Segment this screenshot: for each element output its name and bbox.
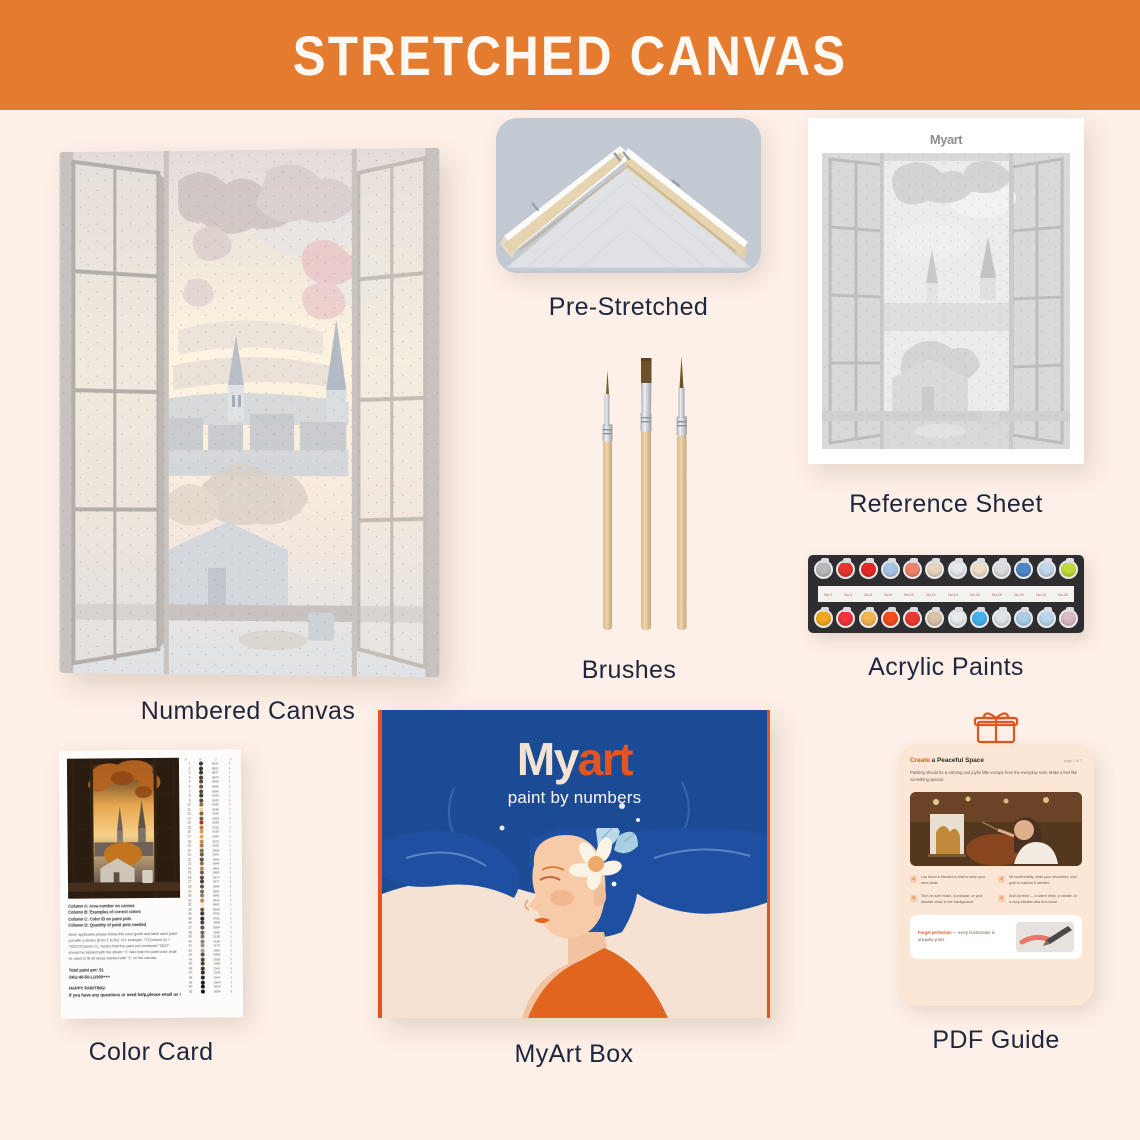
color-id: 2000	[213, 948, 220, 952]
paint-pot-bottom-6	[925, 609, 944, 628]
pot-quantity: 1	[229, 953, 234, 957]
area-number: 15	[185, 826, 191, 830]
pot-quantity: 1	[228, 921, 233, 925]
color-card-instruction-text: when applicable,please follow this color…	[68, 932, 181, 963]
area-number: 47	[186, 971, 192, 975]
paint-pot-bottom-3	[859, 609, 878, 628]
pdf-photo	[910, 792, 1082, 866]
paint-pot-bottom-5	[903, 609, 922, 628]
color-id: 0054	[213, 925, 220, 929]
pdf-subtitle: Painting should be a calming and joyful …	[910, 770, 1082, 784]
color-id: 0200	[212, 816, 219, 820]
area-number: 1	[184, 762, 190, 766]
paint-label-10: No 20	[1014, 592, 1024, 597]
color-card-legend: Column A: Area number on canvasColumn B:…	[68, 903, 181, 929]
tip-text: Add comfort — a warm drink, a candle, or…	[1009, 894, 1078, 906]
color-card-left-column: Column A: Area number on canvasColumn B:…	[67, 758, 182, 1011]
pot-quantity: 1	[227, 798, 232, 802]
color-swatch	[200, 857, 204, 861]
pot-quantity: 1	[229, 980, 234, 984]
pot-quantity: 1	[228, 898, 233, 902]
pot-quantity: 1	[227, 807, 232, 811]
area-number: 36	[186, 921, 192, 925]
pot-quantity: 1	[228, 857, 233, 861]
tip-text: Lay down a blanket or mat to keep your a…	[921, 875, 990, 887]
product-reference-sheet: Myart	[808, 118, 1084, 519]
pot-quantity: 1	[229, 948, 234, 952]
pot-quantity: 1	[228, 934, 233, 938]
area-number: 41	[186, 944, 192, 948]
caption-acrylic-paints: Acrylic Paints	[808, 653, 1084, 682]
tip-number: 2	[998, 876, 1005, 883]
paint-pot-bottom-11	[1037, 609, 1056, 628]
area-number: 4	[185, 776, 191, 780]
area-number: 49	[186, 980, 192, 984]
paint-pot-top-6	[925, 560, 944, 579]
pot-quantity: 1	[227, 771, 232, 775]
pot-quantity: 1	[229, 962, 234, 966]
area-number: 45	[186, 962, 192, 966]
area-number: 18	[185, 839, 191, 843]
color-swatch	[200, 889, 204, 893]
color-swatch	[200, 907, 204, 911]
color-card-painting-preview	[67, 758, 181, 899]
pdf-highlight-note: Forget perfection — every brushstroke is…	[910, 915, 1082, 959]
paint-pot-row-top	[812, 560, 1080, 579]
paint-pot-bottom-7	[948, 609, 967, 628]
area-number: 10	[185, 803, 191, 807]
pot-quantity: 1	[228, 925, 233, 929]
pot-quantity: 1	[227, 821, 232, 825]
color-id: 0096	[212, 780, 219, 784]
paint-pot-top-9	[992, 560, 1011, 579]
color-id: 0370	[213, 875, 220, 879]
paint-pot-top-5	[903, 560, 922, 579]
color-id: 0220	[212, 834, 219, 838]
area-number: 20	[185, 848, 191, 852]
product-acrylic-paints: No 2No 4No 6No 8No 10No 12No 14No 16No 1…	[808, 555, 1084, 682]
area-number: 51	[186, 989, 192, 993]
paint-pot-top-11	[1037, 560, 1056, 579]
area-number: 38	[186, 930, 192, 934]
color-id: 0365	[213, 871, 220, 875]
color-swatch	[199, 789, 203, 793]
pot-quantity: 1	[229, 971, 234, 975]
area-number: 26	[185, 876, 191, 880]
paint-pot-bottom-12	[1059, 609, 1078, 628]
numbered-canvas-image	[60, 148, 440, 677]
pot-quantity: 1	[228, 903, 233, 907]
paint-label-7: No 14	[948, 592, 958, 597]
three-brushes-illustration	[500, 350, 758, 642]
paint-pot-top-8	[970, 560, 989, 579]
paint-pot-bottom-2	[836, 609, 855, 628]
area-number: 11	[185, 807, 191, 811]
paint-label-5: No 10	[904, 592, 914, 597]
color-id: 0221	[212, 839, 219, 843]
paint-pot-top-3	[859, 560, 878, 579]
area-number: 48	[186, 976, 192, 980]
product-brushes: Brushes	[500, 350, 758, 685]
area-number: 28	[185, 885, 191, 889]
color-id: 0606	[213, 907, 220, 911]
color-id: 0183	[212, 812, 219, 816]
pot-quantity: 1	[228, 889, 233, 893]
pdf-title-rest: a Peaceful Space	[930, 757, 984, 764]
pot-quantity: 1	[228, 939, 233, 943]
pot-quantity: 1	[227, 784, 232, 788]
caption-reference-sheet: Reference Sheet	[808, 490, 1084, 519]
reference-sheet-paper: Myart	[808, 118, 1084, 464]
area-number: 31	[186, 898, 192, 902]
color-id: 2144	[214, 975, 221, 979]
pdf-tip: 4Add comfort — a warm drink, a candle, o…	[998, 894, 1078, 906]
color-id: 2268	[214, 962, 221, 966]
color-id: 0023	[212, 766, 219, 770]
color-id: 0342	[213, 857, 220, 861]
area-number: 37	[186, 926, 192, 930]
area-number: 33	[186, 907, 192, 911]
color-swatch	[201, 930, 205, 934]
pdf-tip: 3Turn on soft music, a podcast, or your …	[910, 894, 990, 906]
area-number: 43	[186, 953, 192, 957]
area-number: 27	[185, 880, 191, 884]
logo-my-text: My	[517, 733, 578, 785]
pot-quantity: 1	[227, 825, 232, 829]
pdf-tips-list: 1Lay down a blanket or mat to keep your …	[910, 875, 1082, 906]
paint-pot-top-2	[836, 560, 855, 579]
pot-quantity: 1	[228, 884, 233, 888]
pot-quantity: 1	[229, 966, 234, 970]
color-id: 0380	[213, 884, 220, 888]
paint-label-4: No 8	[884, 592, 892, 597]
color-id: 0348	[213, 862, 220, 866]
tip-text: Sit comfortably, relax your shoulders, a…	[1009, 875, 1078, 887]
pot-quantity: 1	[228, 848, 233, 852]
pot-quantity: 1	[229, 984, 234, 988]
pdf-page-number: page 1 of 7	[1064, 759, 1082, 763]
color-table-row: 5120541	[185, 989, 235, 994]
product-pdf-guide: Create a Peaceful Space page 1 of 7 Pain…	[898, 710, 1094, 1055]
pot-quantity: 1	[228, 852, 233, 856]
area-number: 19	[185, 844, 191, 848]
page-header: STRETCHED CANVAS	[0, 0, 1140, 110]
gift-icon-area	[898, 710, 1094, 744]
paint-pot-row-bottom	[812, 609, 1080, 628]
pdf-tip: 2Sit comfortably, relax your shoulders, …	[998, 875, 1078, 887]
color-swatch	[201, 966, 205, 970]
area-number: 40	[186, 939, 192, 943]
area-number: 9	[185, 798, 191, 802]
pot-quantity: 1	[227, 812, 232, 816]
product-myart-box: Myart paint by numbers	[378, 710, 770, 1069]
canvas-corner-illustration	[496, 118, 761, 273]
pot-quantity: 1	[227, 789, 232, 793]
pot-quantity: 1	[227, 793, 232, 797]
brushes-image	[500, 350, 758, 642]
paint-pot-bottom-4	[881, 609, 900, 628]
pdf-title: Create a Peaceful Space	[910, 757, 984, 764]
color-id: 2179	[213, 944, 220, 948]
color-id: 2190	[213, 939, 220, 943]
color-swatch	[200, 848, 204, 852]
paint-pot-bottom-1	[814, 609, 833, 628]
area-number: 21	[185, 853, 191, 857]
color-id: 0156	[212, 803, 219, 807]
color-swatch	[199, 766, 203, 770]
paint-pot-top-4	[881, 560, 900, 579]
tip-number: 1	[910, 876, 917, 883]
area-number: 12	[185, 812, 191, 816]
pot-quantity: 1	[228, 916, 233, 920]
pot-quantity: 1	[229, 943, 234, 947]
area-number: 23	[185, 862, 191, 866]
caption-pdf-guide: PDF Guide	[898, 1026, 1094, 1055]
area-number: 14	[185, 821, 191, 825]
color-card-paper: Column A: Area number on canvasColumn B:…	[59, 749, 243, 1019]
color-swatch	[201, 957, 205, 961]
paint-label-9: No 18	[992, 592, 1002, 597]
product-pre-stretched: Pre-Stretched	[496, 118, 761, 322]
paint-label-2: No 4	[844, 592, 852, 597]
color-id: 0391	[213, 894, 220, 898]
color-id: 0100	[212, 794, 219, 798]
pdf-tip: 1Lay down a blanket or mat to keep your …	[910, 875, 990, 887]
pdf-guide-page: Create a Peaceful Space page 1 of 7 Pain…	[898, 744, 1094, 1006]
paint-label-1: No 2	[824, 592, 832, 597]
gift-icon	[972, 710, 1020, 744]
color-swatch	[199, 798, 203, 802]
area-number: 30	[186, 894, 192, 898]
color-id: 2141	[214, 966, 221, 970]
color-id: 0338	[213, 848, 220, 852]
paint-tray: No 2No 4No 6No 8No 10No 12No 14No 16No 1…	[808, 555, 1084, 633]
color-id: 2340	[214, 980, 221, 984]
color-card-instructions: when applicable,please follow this color…	[68, 928, 181, 963]
color-swatch	[200, 839, 204, 843]
paint-pot-top-12	[1059, 560, 1078, 579]
color-id: 2054	[214, 989, 221, 993]
color-id: 0341	[213, 853, 220, 857]
reference-greyscale-scene	[822, 153, 1070, 449]
color-id: 2139	[213, 934, 220, 938]
color-card-totals: Total paint pot: 51 SKU:40-50-LU300+++	[69, 967, 182, 981]
pot-quantity: 1	[228, 912, 233, 916]
area-number: 29	[186, 889, 192, 893]
color-swatch	[200, 816, 204, 820]
pot-quantity: 1	[227, 762, 232, 766]
color-id: 0186	[212, 807, 219, 811]
color-id: 0033	[212, 762, 219, 766]
paint-label-8: No 16	[970, 592, 980, 597]
area-number: 25	[185, 871, 191, 875]
area-number: 7	[185, 789, 191, 793]
paint-pot-top-1	[814, 560, 833, 579]
woman-painting-photo	[910, 792, 1082, 866]
pot-quantity: 1	[229, 989, 234, 993]
pre-stretched-image	[496, 118, 761, 273]
color-id: 0361	[213, 866, 220, 870]
pdf-note-image	[1016, 922, 1074, 952]
area-number: 46	[186, 967, 192, 971]
pot-quantity: 1	[229, 957, 234, 961]
page-title: STRETCHED CANVAS	[293, 23, 847, 88]
pot-quantity: 1	[228, 866, 233, 870]
color-table-rows: 1003312002313002714007415009616009517009…	[183, 761, 235, 993]
paint-pot-top-10	[1014, 560, 1033, 579]
color-id: 0074	[212, 775, 219, 779]
caption-pre-stretched: Pre-Stretched	[496, 293, 761, 322]
color-id: 2143	[214, 971, 221, 975]
color-swatch	[201, 989, 205, 993]
pot-quantity: 1	[227, 766, 232, 770]
pdf-title-highlight: Create	[910, 757, 930, 764]
color-card-table: ABCD 10033120023130027140074150096160095…	[183, 757, 235, 1009]
color-id: 0415	[213, 898, 220, 902]
pot-quantity: 1	[228, 875, 233, 879]
area-number: 17	[185, 835, 191, 839]
paint-label-strip: No 2No 4No 6No 8No 10No 12No 14No 16No 1…	[818, 586, 1074, 602]
paint-label-6: No 12	[926, 592, 936, 597]
paint-pot-bottom-8	[970, 609, 989, 628]
color-id: 2036	[213, 930, 220, 934]
area-number: 6	[185, 785, 191, 789]
area-number: 8	[185, 794, 191, 798]
product-color-card: Column A: Area number on canvasColumn B:…	[60, 750, 242, 1067]
color-id: 2036	[213, 957, 220, 961]
paint-pot-bottom-10	[1014, 609, 1033, 628]
area-number: 50	[186, 985, 192, 989]
area-number: 13	[185, 816, 191, 820]
color-id: 0761	[213, 912, 220, 916]
color-swatch	[201, 948, 205, 952]
pot-quantity: 1	[229, 975, 234, 979]
color-card-footer: HAPPY PAINTING! If you have any question…	[69, 985, 182, 999]
sku-code: SKU:40-50-LU300+++	[69, 974, 182, 982]
pot-quantity: 1	[228, 834, 233, 838]
area-number: 2	[184, 766, 190, 770]
pdf-note-text: Forget perfection — every brushstroke is…	[918, 930, 1010, 943]
area-number: 32	[186, 903, 192, 907]
color-swatch	[199, 807, 203, 811]
paint-pot-top-7	[948, 560, 967, 579]
reference-sheet-logo: Myart	[822, 132, 1070, 147]
pot-quantity: 1	[228, 871, 233, 875]
tip-number: 4	[998, 895, 1005, 902]
area-number: 5	[185, 780, 191, 784]
pot-quantity: 1	[227, 802, 232, 806]
paint-pot-bottom-9	[992, 609, 1011, 628]
area-number: 16	[185, 830, 191, 834]
box-tagline: paint by numbers	[382, 788, 767, 808]
pot-quantity: 1	[227, 780, 232, 784]
pot-quantity: 1	[228, 930, 233, 934]
area-number: 35	[186, 917, 192, 921]
color-swatch	[200, 866, 204, 870]
myart-box-image: Myart paint by numbers	[378, 710, 770, 1018]
color-id: 0152	[212, 798, 219, 802]
color-id: 0751	[213, 916, 220, 920]
pot-quantity: 1	[228, 843, 233, 847]
paint-label-12: No 24	[1058, 592, 1068, 597]
color-id: 0054	[213, 953, 220, 957]
color-id: 0212	[212, 825, 219, 829]
area-number: 34	[186, 912, 192, 916]
product-grid: Numbered Canvas	[0, 110, 1140, 1140]
product-numbered-canvas: Numbered Canvas	[58, 150, 438, 675]
pot-quantity: 1	[228, 830, 233, 834]
color-id: 7806	[213, 921, 220, 925]
pot-quantity: 1	[227, 816, 232, 820]
pot-quantity: 1	[228, 839, 233, 843]
color-swatch	[201, 939, 205, 943]
area-number: 44	[186, 957, 192, 961]
color-id: 0260	[212, 821, 219, 825]
color-id: 0387	[213, 889, 220, 893]
paint-label-11: No 22	[1036, 592, 1046, 597]
color-swatch	[200, 916, 204, 920]
color-id: 0095	[212, 784, 219, 788]
area-number: 3	[184, 771, 190, 775]
color-swatch	[201, 980, 205, 984]
caption-myart-box: MyArt Box	[378, 1040, 770, 1069]
tip-text: Turn on soft music, a podcast, or your f…	[921, 894, 990, 906]
pot-quantity: 1	[228, 862, 233, 866]
box-logo: Myart	[382, 732, 767, 786]
pot-quantity: 1	[228, 893, 233, 897]
pdf-note-highlight: Forget perfection	[918, 930, 952, 935]
color-swatch	[200, 898, 204, 902]
tip-number: 3	[910, 895, 917, 902]
color-id: 2033	[214, 984, 221, 988]
logo-art-text: art	[578, 733, 632, 785]
color-id: 0094	[212, 789, 219, 793]
area-number: 39	[186, 935, 192, 939]
pot-quantity: 1	[228, 880, 233, 884]
caption-color-card: Color Card	[60, 1038, 242, 1067]
area-number: 24	[185, 866, 191, 870]
pdf-header: Create a Peaceful Space page 1 of 7	[910, 757, 1082, 764]
box-woman-illustration	[382, 828, 770, 1018]
color-id: 0377	[213, 880, 220, 884]
contact-text: If you have any questions or need help,p…	[69, 992, 182, 1000]
color-id: 0222	[212, 844, 219, 848]
finished-painting-thumbnail	[67, 758, 181, 899]
color-id: 0027	[212, 771, 219, 775]
pot-quantity: 1	[228, 907, 233, 911]
reference-sheet-artwork	[822, 153, 1070, 449]
paint-by-numbers-artwork	[60, 148, 440, 677]
pot-quantity: 1	[227, 775, 232, 779]
color-id: 0219	[212, 830, 219, 834]
color-id: 0602	[213, 903, 220, 907]
box-branding: Myart paint by numbers	[382, 710, 767, 808]
area-number: 42	[186, 948, 192, 952]
caption-brushes: Brushes	[500, 656, 758, 685]
area-number: 22	[185, 857, 191, 861]
brushstroke-closeup	[1016, 922, 1074, 952]
paint-label-3: No 6	[864, 592, 872, 597]
